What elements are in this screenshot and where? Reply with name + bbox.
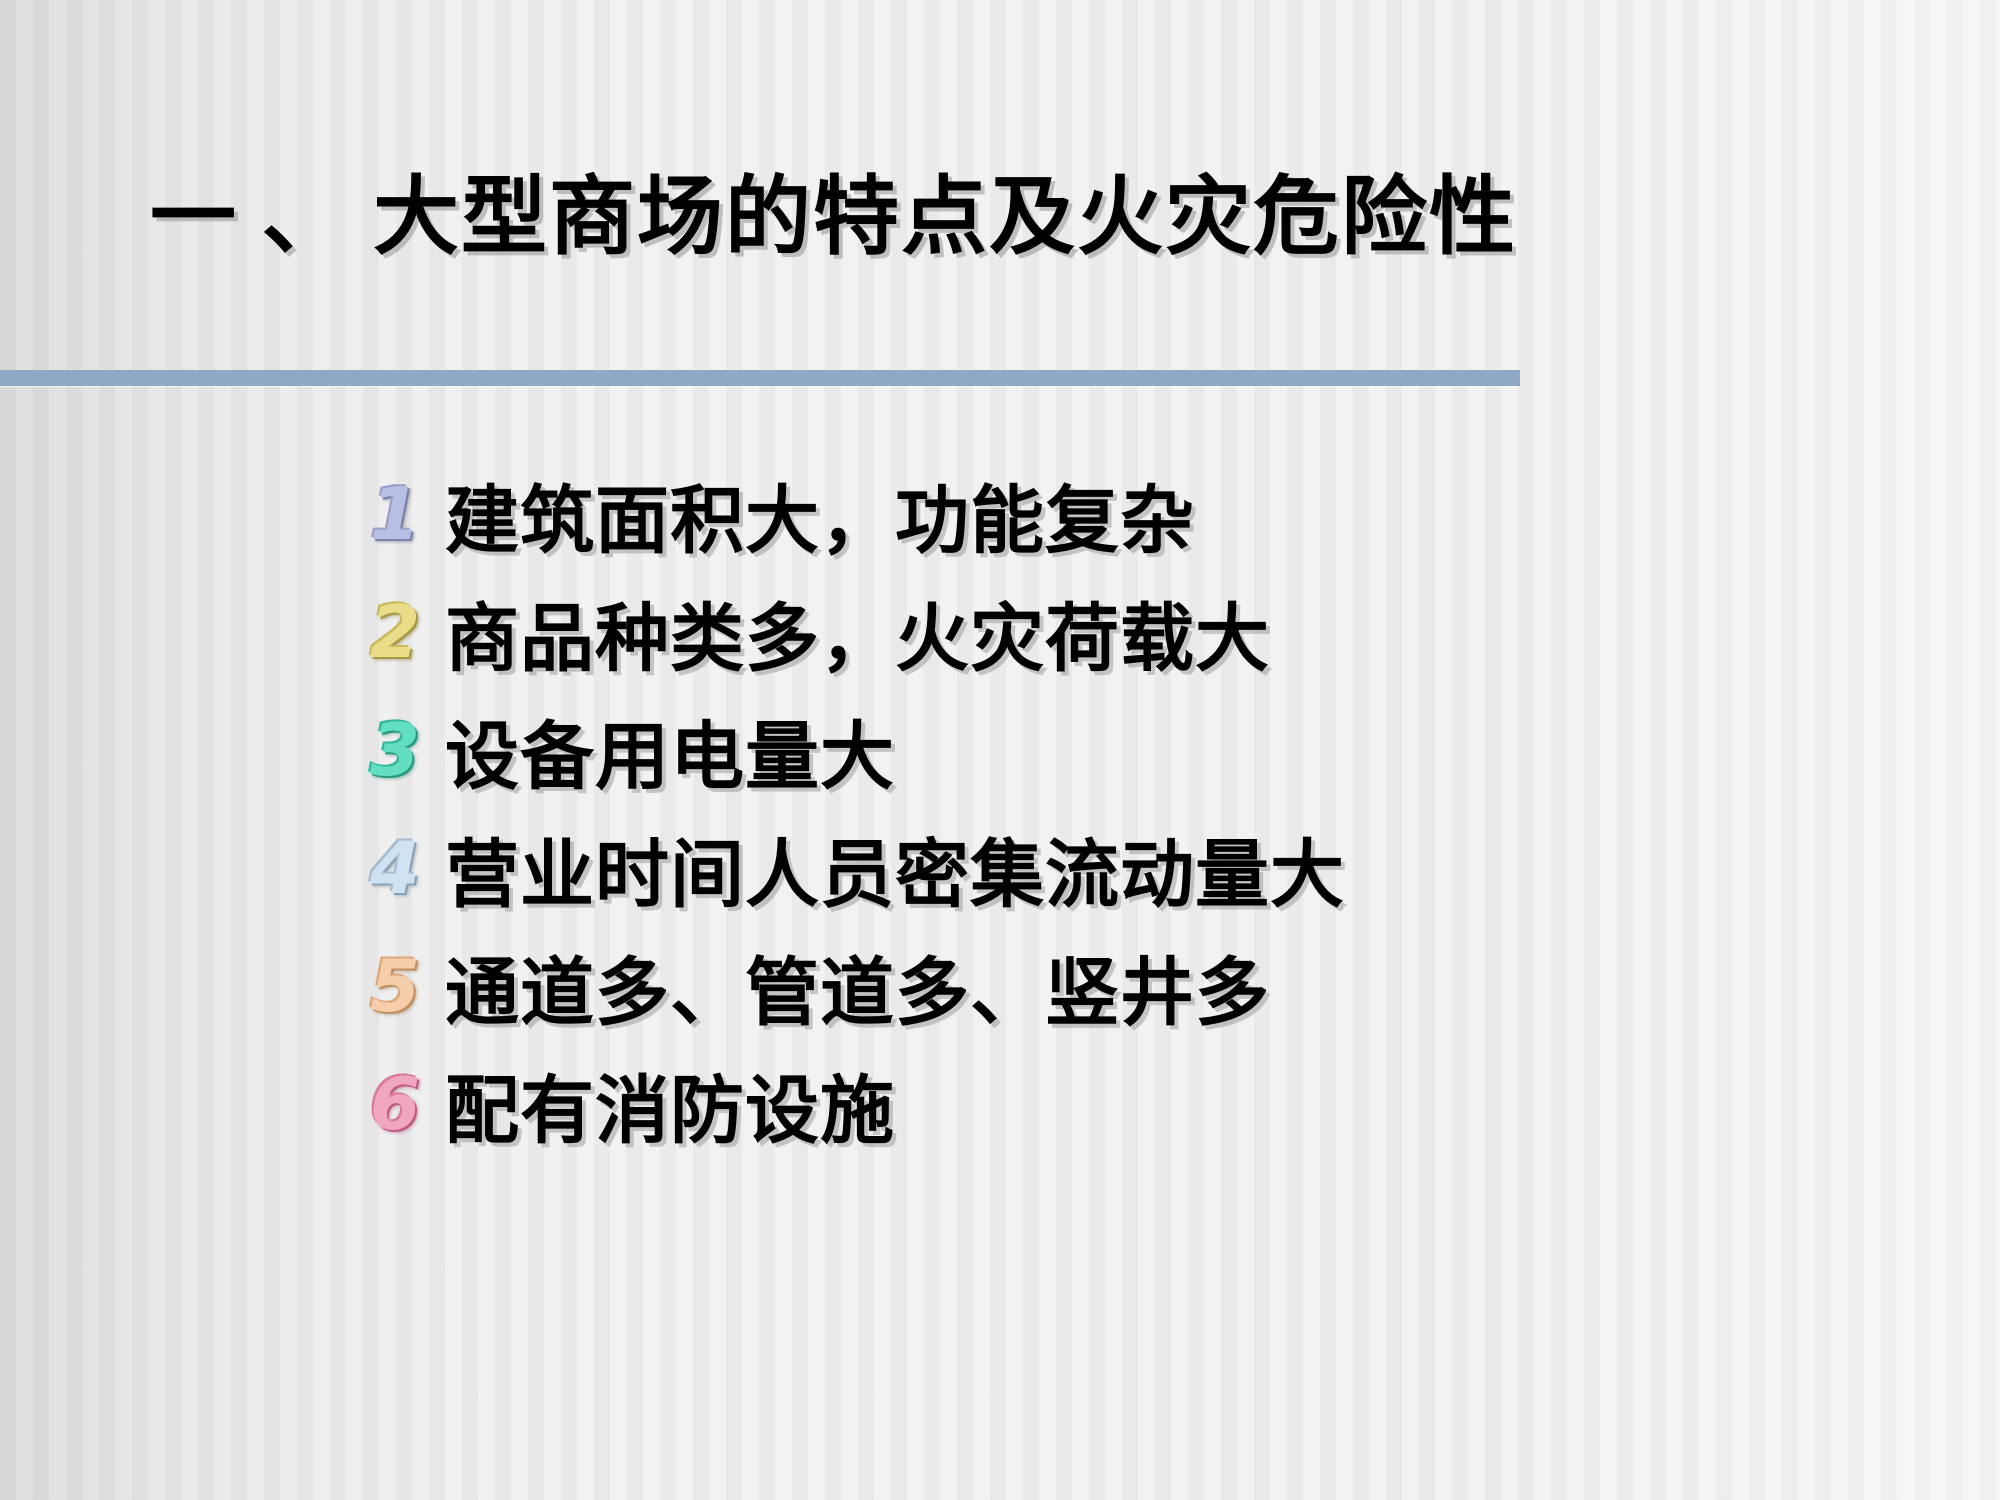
list-item-label: 通道多、管道多、竖井多: [445, 933, 1945, 1040]
list-item-label: 建筑面积大，功能复杂: [445, 461, 1945, 568]
list-item[interactable]: 4 营业时间人员密集流动量大: [345, 809, 1945, 927]
list-item[interactable]: 2 商品种类多，火灾荷载大: [345, 573, 1945, 691]
number-4-icon: 4: [345, 832, 445, 904]
list-item[interactable]: 1 建筑面积大，功能复杂: [345, 455, 1945, 573]
list-item-label: 商品种类多，火灾荷载大: [445, 579, 1945, 686]
title-divider-line: [0, 370, 1520, 386]
list-item[interactable]: 5 通道多、管道多、竖井多: [345, 927, 1945, 1045]
list-item-label: 配有消防设施: [445, 1051, 1945, 1158]
list-item[interactable]: 3 设备用电量大: [345, 691, 1945, 809]
list-item-label: 营业时间人员密集流动量大: [445, 815, 1945, 922]
number-2-icon: 2: [345, 596, 445, 668]
number-5-icon: 5: [345, 950, 445, 1022]
presentation-slide: 一 、 大型商场的特点及火灾危险性 1 建筑面积大，功能复杂 2 商品种类多，火…: [0, 0, 2000, 1500]
bullet-list: 1 建筑面积大，功能复杂 2 商品种类多，火灾荷载大 3 设备用电量大 4 营业…: [345, 455, 1945, 1163]
number-3-icon: 3: [345, 714, 445, 786]
slide-title: 一 、 大型商场的特点及火灾危险性: [150, 170, 1870, 265]
list-item[interactable]: 6 配有消防设施: [345, 1045, 1945, 1163]
list-item-label: 设备用电量大: [445, 697, 1945, 804]
number-6-icon: 6: [345, 1068, 445, 1140]
number-1-icon: 1: [345, 478, 445, 550]
